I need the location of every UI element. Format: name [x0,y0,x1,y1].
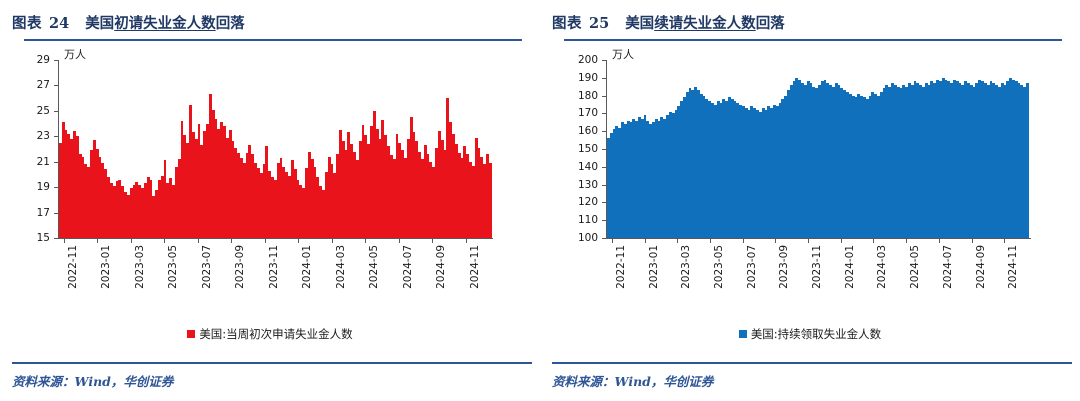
y-tick-mark [602,60,606,61]
x-tick-mark [97,239,98,243]
y-tick-mark [54,85,58,86]
x-tick-mark [298,239,299,243]
bar [489,163,492,238]
x-tick-label: 2022-11 [616,245,627,289]
x-tick-mark [231,239,232,243]
y-tick-mark [54,213,58,214]
x-tick-label: 2023-01 [101,245,112,289]
figure-title-underlined: 续请失业金人数 [654,15,756,32]
x-tick-label: 2023-09 [779,245,790,289]
y-tick-label: 190 [552,73,598,84]
figure-header-25: 图表 25 美国续请失业金人数回落 [552,0,1070,46]
x-tick-mark [873,239,874,243]
x-tick-label: 2024-11 [1008,245,1019,289]
x-tick-mark [466,239,467,243]
x-tick-mark [332,239,333,243]
figure-title: 美国初请失业金人数回落 [85,12,245,33]
y-tick-label: 23 [12,131,50,142]
x-tick-label: 2023-09 [235,245,246,289]
x-tick-label: 2023-05 [714,245,725,289]
footer-divider [552,362,1072,364]
x-tick-mark [808,239,809,243]
y-tick-label: 25 [12,106,50,117]
x-tick-mark [432,239,433,243]
y-tick-mark [54,60,58,61]
x-tick-label: 2024-05 [910,245,921,289]
figure-label: 图表 [12,12,42,33]
x-tick-mark [64,239,65,243]
y-tick-label: 27 [12,80,50,91]
y-tick-label: 110 [552,215,598,226]
x-axis-line [58,238,493,239]
x-tick-label: 2024-05 [369,245,380,289]
figure-title: 美国续请失业金人数回落 [625,12,785,33]
x-tick-mark [131,239,132,243]
x-tick-mark [710,239,711,243]
bar-series [59,60,492,238]
x-tick-label: 2024-03 [877,245,888,289]
x-tick-mark [775,239,776,243]
figure-panel-24: 图表 24 美国初请失业金人数回落 万人 1517192123252729202… [0,0,540,401]
y-tick-mark [602,113,606,114]
y-tick-mark [54,136,58,137]
x-tick-mark [906,239,907,243]
y-tick-label: 140 [552,162,598,173]
legend-label: 美国:当周初次申请失业金人数 [199,326,352,342]
x-tick-label: 2023-07 [747,245,758,289]
y-tick-label: 160 [552,126,598,137]
x-tick-label: 2024-07 [943,245,954,289]
y-tick-label: 130 [552,179,598,190]
x-tick-label: 2023-11 [812,245,823,289]
bar-series [607,60,1030,238]
y-tick-label: 120 [552,197,598,208]
x-tick-label: 2023-03 [681,245,692,289]
x-tick-mark [743,239,744,243]
source-note: 资料来源：Wind，华创证券 [12,371,173,390]
x-tick-mark [841,239,842,243]
x-tick-label: 2023-05 [168,245,179,289]
chart-legend-25: 美国:持续领取失业金人数 [540,326,1080,342]
y-tick-mark [602,220,606,221]
y-tick-mark [602,167,606,168]
y-tick-label: 15 [12,233,50,244]
header-divider [564,39,1062,41]
chart-area-24: 万人 15171921232527292022-112023-012023-03… [12,46,530,336]
x-tick-mark [198,239,199,243]
y-tick-mark [602,96,606,97]
x-tick-mark [939,239,940,243]
x-tick-label: 2024-01 [302,245,313,289]
x-tick-mark [677,239,678,243]
figure-title-prefix: 美国 [625,15,654,32]
x-tick-label: 2024-09 [436,245,447,289]
y-tick-label: 180 [552,90,598,101]
figure-title-suffix: 回落 [216,15,245,32]
figure-pair-page: 图表 24 美国初请失业金人数回落 万人 1517192123252729202… [0,0,1080,401]
x-tick-mark [265,239,266,243]
x-tick-mark [399,239,400,243]
figure-title-prefix: 美国 [85,15,114,32]
x-axis-line [606,238,1031,239]
figure-title-suffix: 回落 [756,15,785,32]
x-tick-mark [972,239,973,243]
bar [1026,83,1029,238]
x-tick-mark [1004,239,1005,243]
figure-number: 25 [589,15,609,32]
y-tick-mark [602,78,606,79]
legend-color-swatch [739,330,747,338]
figure-label: 图表 [552,12,582,33]
y-tick-label: 170 [552,108,598,119]
legend-color-swatch [187,330,195,338]
y-tick-label: 17 [12,207,50,218]
x-tick-mark [612,239,613,243]
y-tick-label: 100 [552,233,598,244]
x-tick-mark [365,239,366,243]
figure-header-24: 图表 24 美国初请失业金人数回落 [12,0,530,46]
y-tick-mark [54,238,58,239]
chart-legend-24: 美国:当周初次申请失业金人数 [0,326,540,342]
x-tick-label: 2023-07 [202,245,213,289]
y-tick-mark [602,238,606,239]
y-tick-label: 21 [12,156,50,167]
legend-label: 美国:持续领取失业金人数 [751,326,881,342]
header-divider [24,39,522,41]
chart-area-25: 万人 1001101201301401501601701801902002022… [552,46,1070,336]
figure-number: 24 [49,15,69,32]
y-tick-mark [602,131,606,132]
source-note: 资料来源：Wind，华创证券 [552,371,713,390]
y-tick-mark [602,149,606,150]
x-tick-label: 2022-11 [68,245,79,289]
figure-title-underlined: 初请失业金人数 [114,15,216,32]
y-tick-mark [54,111,58,112]
x-tick-mark [164,239,165,243]
x-tick-label: 2024-01 [845,245,856,289]
x-tick-mark [645,239,646,243]
y-tick-label: 19 [12,182,50,193]
x-tick-label: 2023-11 [269,245,280,289]
y-tick-mark [602,202,606,203]
x-tick-label: 2024-07 [403,245,414,289]
y-tick-mark [602,185,606,186]
y-tick-mark [54,162,58,163]
x-tick-label: 2023-03 [135,245,146,289]
x-tick-label: 2024-11 [470,245,481,289]
y-tick-label: 29 [12,55,50,66]
y-tick-mark [54,187,58,188]
y-tick-label: 150 [552,144,598,155]
x-tick-label: 2024-09 [976,245,987,289]
x-tick-label: 2023-01 [649,245,660,289]
y-tick-label: 200 [552,55,598,66]
figure-panel-25: 图表 25 美国续请失业金人数回落 万人 1001101201301401501… [540,0,1080,401]
footer-divider [12,362,532,364]
x-tick-label: 2024-03 [336,245,347,289]
